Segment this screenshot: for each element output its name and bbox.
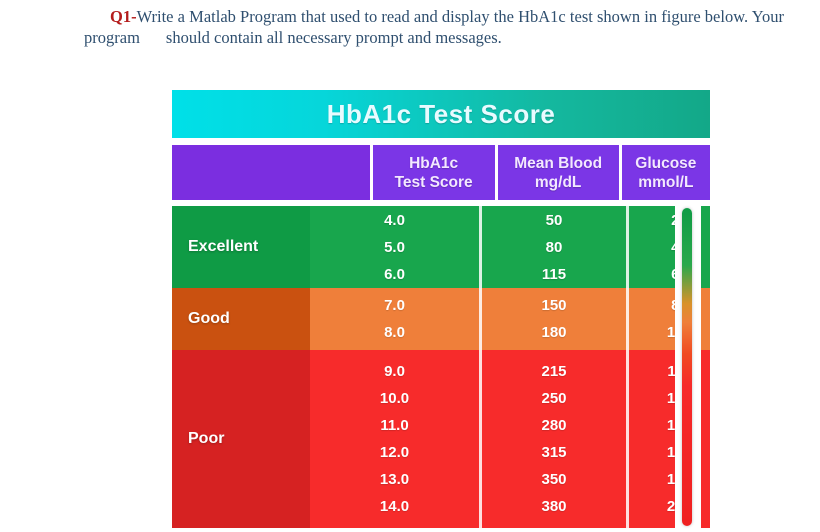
cell-hba1c-excellent: 4.0 5.0 6.0 bbox=[310, 206, 482, 288]
value: 12.0 bbox=[380, 439, 409, 466]
value: 7.0 bbox=[384, 292, 405, 319]
category-label-excellent: Excellent bbox=[172, 206, 282, 288]
header-mean-blood-line1: Mean Blood bbox=[514, 154, 602, 173]
value: 50 bbox=[546, 207, 563, 234]
category-data-poor: 9.0 10.0 11.0 12.0 13.0 14.0 215 250 280… bbox=[310, 350, 710, 528]
header-cell-hba1c: HbA1c Test Score bbox=[373, 145, 498, 200]
header-cell-glucose: Glucose mmol/L bbox=[622, 145, 710, 200]
category-label-good: Good bbox=[172, 288, 282, 350]
header-hba1c-line1: HbA1c bbox=[409, 154, 458, 173]
value: 350 bbox=[541, 466, 566, 493]
question-line-1: Write a Matlab Program that used to read… bbox=[137, 7, 566, 26]
chevron-right-icon bbox=[282, 206, 310, 288]
cell-hba1c-good: 7.0 8.0 bbox=[310, 288, 482, 350]
chevron-right-icon bbox=[282, 350, 310, 528]
value: 315 bbox=[541, 439, 566, 466]
cell-mean-blood-poor: 215 250 280 315 350 380 bbox=[482, 350, 629, 528]
header-mean-blood-line2: mg/dL bbox=[535, 173, 582, 192]
category-label-text: Excellent bbox=[188, 238, 258, 256]
value: 380 bbox=[541, 493, 566, 520]
header-glucose-line1: Glucose bbox=[635, 154, 696, 173]
value: 14.0 bbox=[380, 493, 409, 520]
value: 250 bbox=[541, 385, 566, 412]
value: 115 bbox=[542, 261, 566, 288]
category-block-good: Good 7.0 8.0 150 180 8.2 10.0 bbox=[172, 288, 710, 350]
header-cell-category bbox=[172, 145, 373, 200]
question-number: Q1- bbox=[110, 7, 137, 26]
value: 80 bbox=[546, 234, 563, 261]
category-label-text: Good bbox=[188, 310, 230, 328]
category-block-poor: Poor 9.0 10.0 11.0 12.0 13.0 14.0 215 25… bbox=[172, 350, 710, 528]
header-hba1c-line2: Test Score bbox=[395, 173, 473, 192]
question-line-2b: should contain all necessary bbox=[166, 28, 352, 47]
category-data-excellent: 4.0 5.0 6.0 50 80 115 2.6 4.7 6.3 bbox=[310, 206, 710, 288]
value: 6.0 bbox=[384, 261, 405, 288]
value: 4.0 bbox=[384, 207, 405, 234]
question-text-block: Q1-Write a Matlab Program that used to r… bbox=[84, 6, 784, 48]
value: 10.0 bbox=[380, 385, 409, 412]
header-glucose-line2: mmol/L bbox=[638, 173, 693, 192]
value: 150 bbox=[541, 292, 566, 319]
figure-title: HbA1c Test Score bbox=[327, 99, 556, 130]
value: 215 bbox=[541, 358, 566, 385]
header-cell-mean-blood: Mean Blood mg/dL bbox=[498, 145, 622, 200]
category-label-poor: Poor bbox=[172, 350, 282, 528]
chevron-right-icon bbox=[282, 288, 310, 350]
value: 280 bbox=[541, 412, 566, 439]
hba1c-test-score-figure: HbA1c Test Score HbA1c Test Score Mean B… bbox=[172, 90, 710, 528]
category-label-text: Poor bbox=[188, 430, 224, 448]
value: 9.0 bbox=[384, 358, 405, 385]
cell-hba1c-poor: 9.0 10.0 11.0 12.0 13.0 14.0 bbox=[310, 350, 482, 528]
value: 5.0 bbox=[384, 234, 405, 261]
category-data-good: 7.0 8.0 150 180 8.2 10.0 bbox=[310, 288, 710, 350]
value: 180 bbox=[541, 319, 566, 346]
severity-gradient-gauge bbox=[682, 208, 692, 526]
question-line-3: prompt and messages. bbox=[356, 28, 502, 47]
category-block-excellent: Excellent 4.0 5.0 6.0 50 80 115 2.6 4.7 … bbox=[172, 206, 710, 288]
table-column-header-row: HbA1c Test Score Mean Blood mg/dL Glucos… bbox=[172, 145, 710, 200]
cell-mean-blood-excellent: 50 80 115 bbox=[482, 206, 629, 288]
value: 13.0 bbox=[380, 466, 409, 493]
value: 11.0 bbox=[380, 412, 408, 439]
figure-title-bar: HbA1c Test Score bbox=[172, 90, 710, 138]
cell-mean-blood-good: 150 180 bbox=[482, 288, 629, 350]
value: 8.0 bbox=[384, 319, 405, 346]
